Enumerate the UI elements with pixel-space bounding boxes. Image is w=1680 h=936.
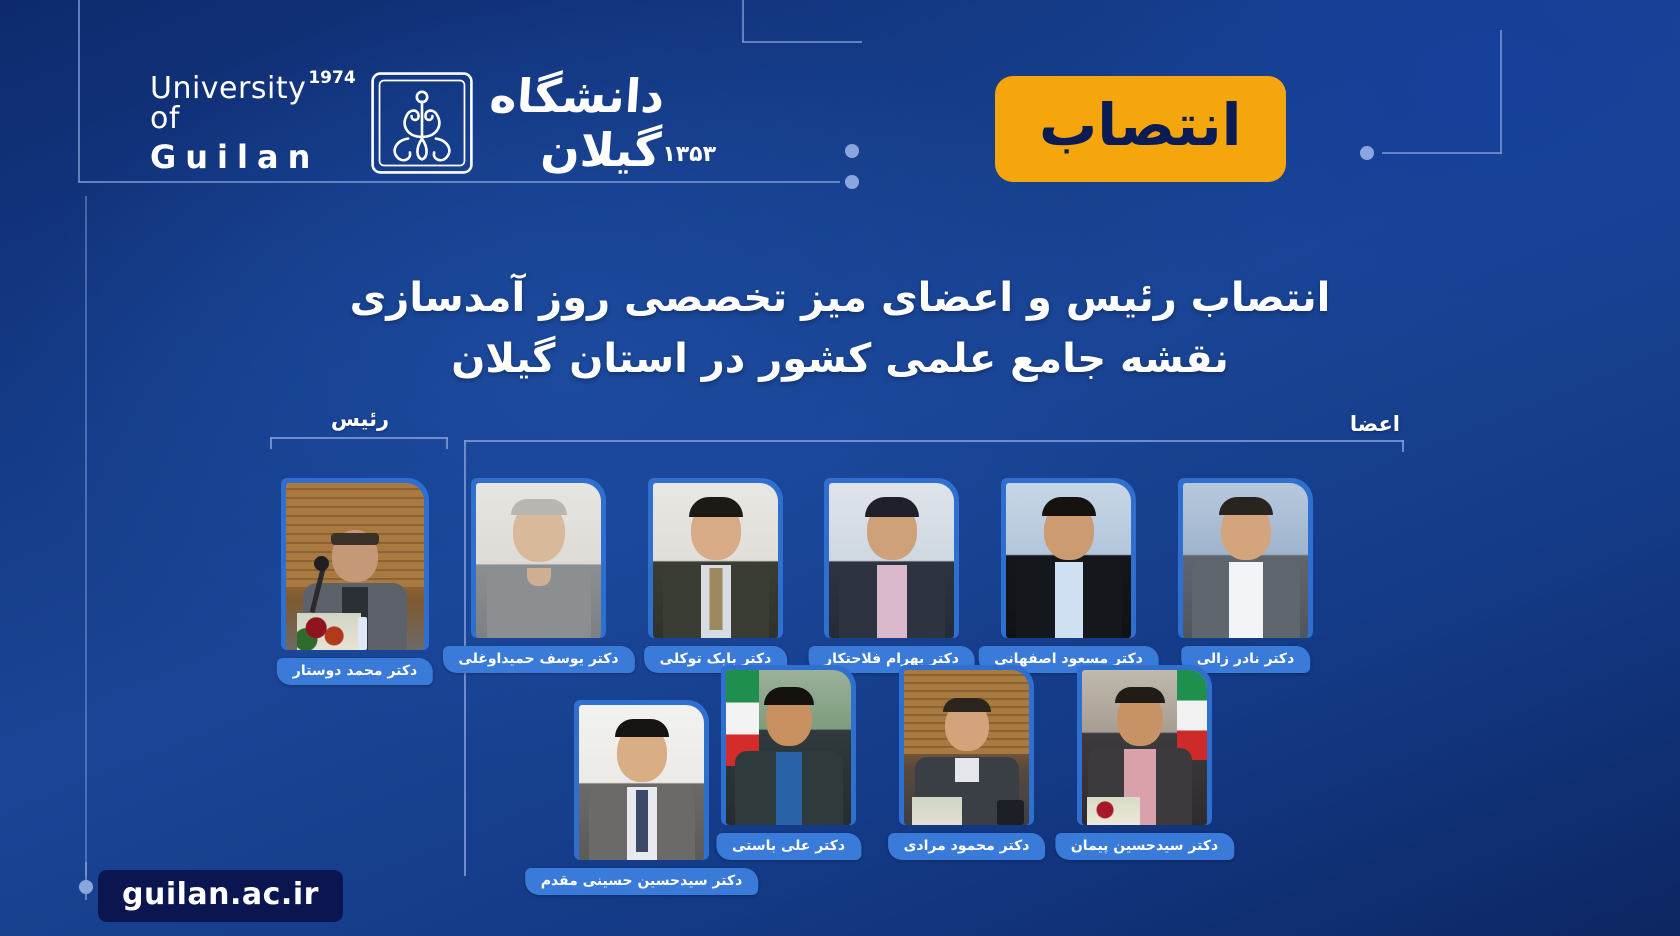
- member-photo: [1082, 670, 1207, 825]
- logo-year-solar: ۱۳۵۳: [662, 142, 716, 167]
- member-name: دکتر نادر زالی: [1197, 651, 1295, 667]
- member-name: دکتر سیدحسین پیمان: [1071, 838, 1218, 854]
- member-card[interactable]: دکتر یوسف حمیداوغلی: [471, 478, 606, 638]
- member-namebar: دکتر علی باستی: [716, 833, 861, 860]
- guilan-university-emblem-icon: [370, 71, 474, 175]
- members-rail-tick-right: [1402, 440, 1404, 452]
- page-title-line-1: انتصاب رئیس و اعضای میز تخصصی روز آمدساز…: [250, 268, 1430, 329]
- member-namebar: دکتر سیدحسین حسینی مقدم: [525, 868, 759, 895]
- page-title: انتصاب رئیس و اعضای میز تخصصی روز آمدساز…: [0, 268, 1680, 390]
- page-title-line-2: نقشه جامع علمی کشور در استان گیلان: [250, 329, 1430, 390]
- member-photo: [476, 483, 601, 638]
- member-name: دکتر سیدحسین حسینی مقدم: [541, 873, 743, 889]
- member-card[interactable]: دکتر بهرام فلاحتکار: [824, 478, 959, 638]
- deco-dot-footer: [79, 880, 93, 894]
- poster-canvas: University of 1974 Guilan ۱۳۵۳ دانشگاه گ…: [0, 0, 1680, 936]
- logo-english-text: University of 1974 Guilan: [150, 74, 356, 173]
- member-photo: [829, 483, 954, 638]
- chair-rail: [270, 437, 448, 439]
- member-name: دکتر یوسف حمیداوغلی: [458, 651, 618, 667]
- member-photo: [1183, 483, 1308, 638]
- member-photo: [653, 483, 778, 638]
- member-card[interactable]: دکتر بابک توکلی: [648, 478, 783, 638]
- member-card[interactable]: دکتر محمود مرادی: [899, 665, 1034, 825]
- deco-dot-right: [1360, 146, 1374, 160]
- logo-persian-name: دانشگاه گیلان: [484, 69, 666, 177]
- member-name: دکتر علی باستی: [732, 838, 845, 854]
- member-card[interactable]: دکتر علی باستی: [721, 665, 856, 825]
- logo-guilan-label: Guilan: [150, 141, 319, 173]
- member-card[interactable]: دکتر نادر زالی: [1178, 478, 1313, 638]
- chair-photo: [286, 483, 424, 650]
- university-logo: University of 1974 Guilan ۱۳۵۳ دانشگاه گ…: [150, 58, 710, 188]
- member-namebar: دکتر محمود مرادی: [888, 833, 1046, 860]
- chair-name: دکتر محمد دوستار: [293, 663, 417, 679]
- logo-persian-text: ۱۳۵۳ دانشگاه گیلان: [488, 69, 726, 177]
- logo-year-gregorian: 1974: [308, 70, 355, 87]
- deco-hline-mid-top: [742, 41, 862, 43]
- deco-vline-mid-top: [742, 0, 744, 42]
- appointment-badge: انتصاب: [995, 76, 1286, 182]
- chair-card[interactable]: دکتر محمد دوستار: [281, 478, 429, 650]
- member-photo: [1006, 483, 1131, 638]
- chair-rail-tick-left: [270, 437, 272, 449]
- deco-dot-left-1: [845, 175, 859, 189]
- deco-vline-left-top: [78, 0, 80, 182]
- members-rail: [464, 440, 1404, 442]
- member-photo: [726, 670, 851, 825]
- deco-vline-right: [1500, 30, 1502, 154]
- members-section-caption: اعضا: [1280, 412, 1400, 436]
- member-namebar: دکتر یوسف حمیداوغلی: [442, 646, 634, 673]
- logo-university-of-label: University of: [150, 74, 306, 134]
- chair-namebar: دکتر محمد دوستار: [277, 658, 433, 685]
- website-url-badge[interactable]: guilan.ac.ir: [98, 870, 343, 922]
- member-card[interactable]: دکتر سیدحسین پیمان: [1077, 665, 1212, 825]
- member-namebar: دکتر سیدحسین پیمان: [1055, 833, 1234, 860]
- member-photo: [579, 705, 704, 860]
- deco-dot-left-2: [845, 144, 859, 158]
- member-card[interactable]: دکتر سیدحسین حسینی مقدم: [574, 700, 709, 860]
- deco-hline-right: [1382, 152, 1502, 154]
- chair-rail-tick-right: [446, 437, 448, 449]
- member-name: دکتر محمود مرادی: [904, 838, 1030, 854]
- chair-section-caption: رئیس: [300, 407, 420, 431]
- member-photo: [904, 670, 1029, 825]
- member-card[interactable]: دکتر مسعود اصفهانی: [1001, 478, 1136, 638]
